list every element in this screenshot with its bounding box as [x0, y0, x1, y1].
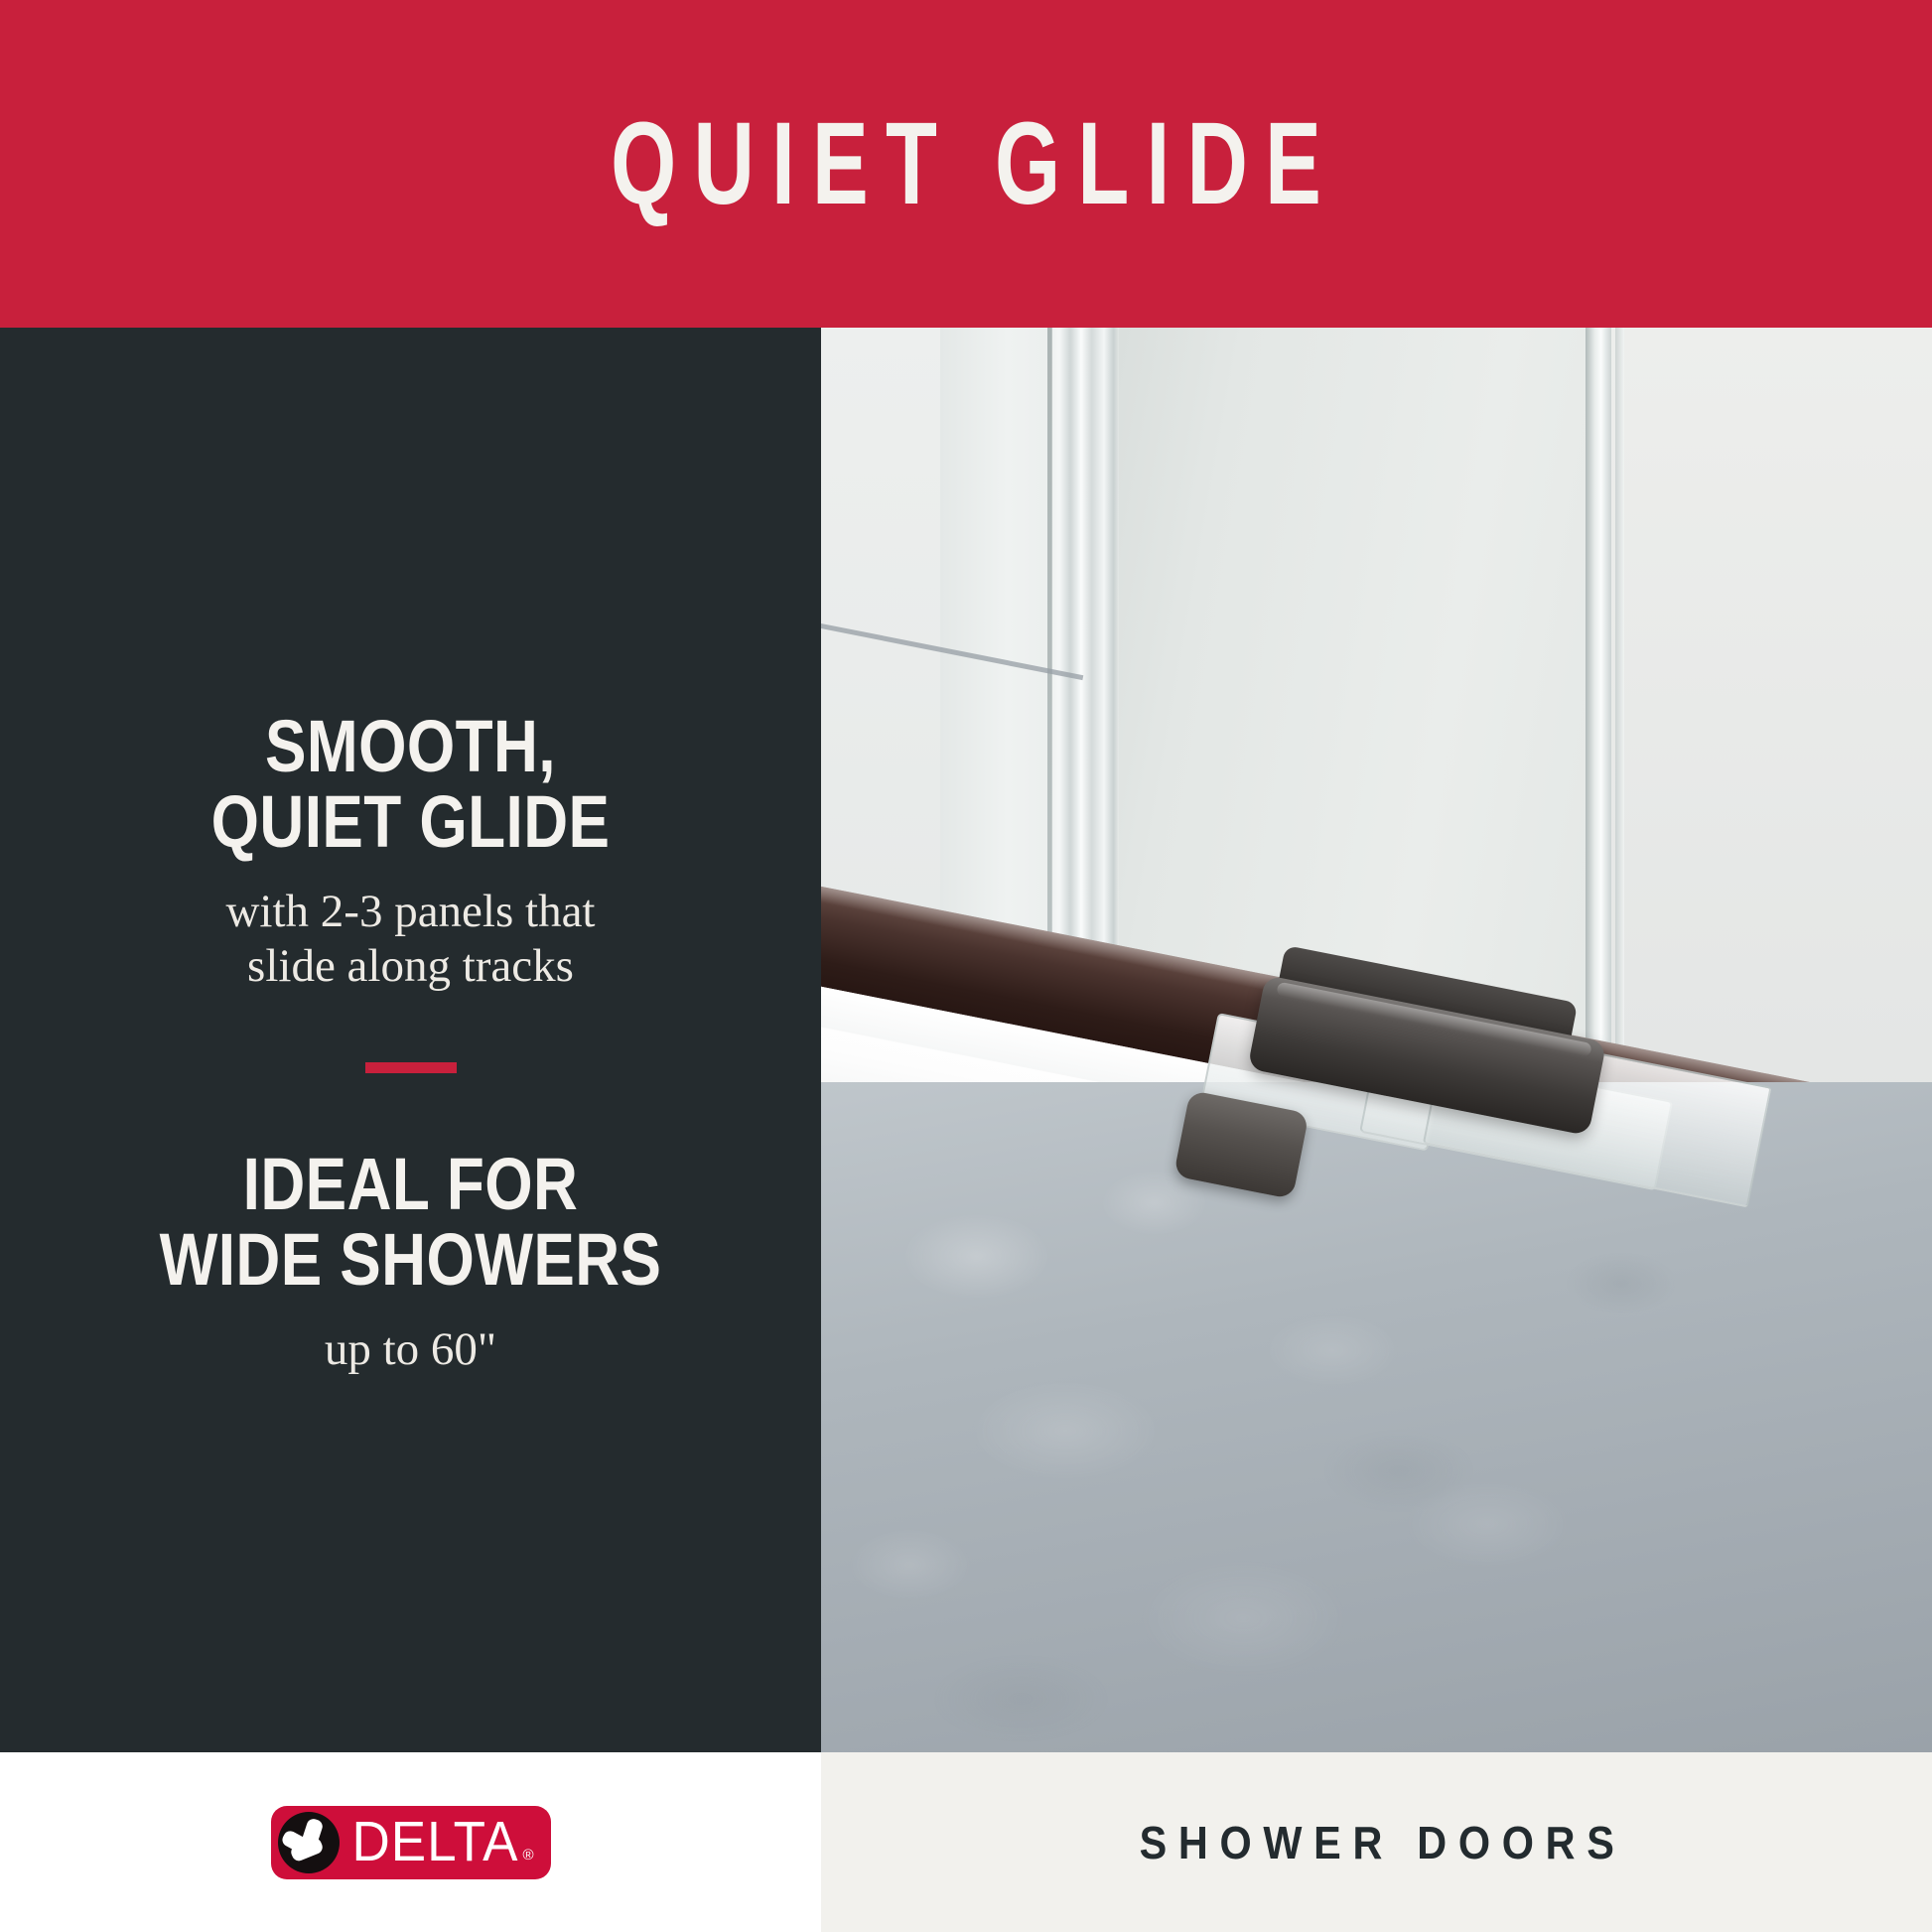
tile-texture — [821, 1082, 1932, 1752]
delta-logo: DELTA ® — [271, 1806, 551, 1879]
feature-headline-1: SMOOTH, QUIET GLIDE — [66, 709, 756, 859]
category-label: SHOWER DOORS — [1128, 1816, 1626, 1869]
feature-block-1: SMOOTH, QUIET GLIDE with 2-3 panels that… — [0, 709, 821, 993]
section-divider — [365, 1062, 457, 1073]
footer-left: DELTA ® — [0, 1752, 821, 1932]
registered-trademark-mark: ® — [522, 1847, 533, 1863]
footer-right: SHOWER DOORS — [821, 1752, 1932, 1932]
main-content: SMOOTH, QUIET GLIDE with 2-3 panels that… — [0, 328, 1932, 1752]
feature-subtext-2: up to 60" — [0, 1322, 821, 1377]
header-band: QUIET GLIDE — [0, 0, 1932, 328]
page-title: QUIET GLIDE — [594, 105, 1338, 222]
product-photo — [821, 328, 1932, 1752]
tile-floor — [821, 1082, 1932, 1752]
feature-headline-2: IDEAL FOR WIDE SHOWERS — [66, 1147, 756, 1297]
feature-block-2: IDEAL FOR WIDE SHOWERS up to 60" — [0, 1147, 821, 1376]
feature-subtext-1: with 2-3 panels that slide along tracks — [0, 885, 821, 993]
footer-bar: DELTA ® SHOWER DOORS — [0, 1752, 1932, 1932]
delta-wordmark: DELTA — [352, 1814, 519, 1869]
feature-text-panel: SMOOTH, QUIET GLIDE with 2-3 panels that… — [0, 328, 821, 1752]
delta-triangle-icon — [278, 1812, 340, 1873]
infographic-page: QUIET GLIDE SMOOTH, QUIET GLIDE with 2-3… — [0, 0, 1932, 1932]
